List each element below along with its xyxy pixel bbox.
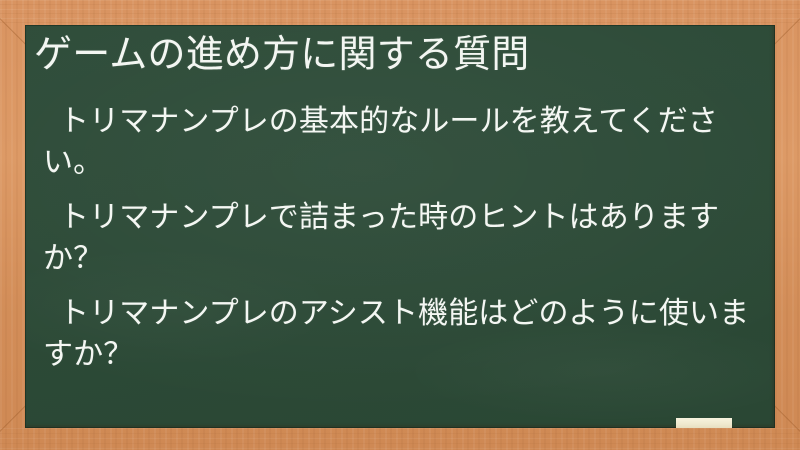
frame-bottom-grain [0,428,800,450]
chalkboard-surface: ゲームの進め方に関する質問 トリマナンプレの基本的なルールを教えてください。 ト… [25,25,775,428]
list-item: トリマナンプレで詰まった時のヒントはありますか？ [43,197,755,279]
chalkboard-slide: ゲームの進め方に関する質問 トリマナンプレの基本的なルールを教えてください。 ト… [0,0,800,450]
list-item: トリマナンプレの基本的なルールを教えてください。 [43,101,755,183]
question-list: トリマナンプレの基本的なルールを教えてください。 トリマナンプレで詰まった時のヒ… [43,101,755,375]
chalk-stick-icon [676,418,732,428]
list-item: トリマナンプレのアシスト機能はどのように使いますか？ [43,293,755,375]
frame-top-grain [0,0,800,26]
slide-title: ゲームの進め方に関する質問 [34,30,764,78]
